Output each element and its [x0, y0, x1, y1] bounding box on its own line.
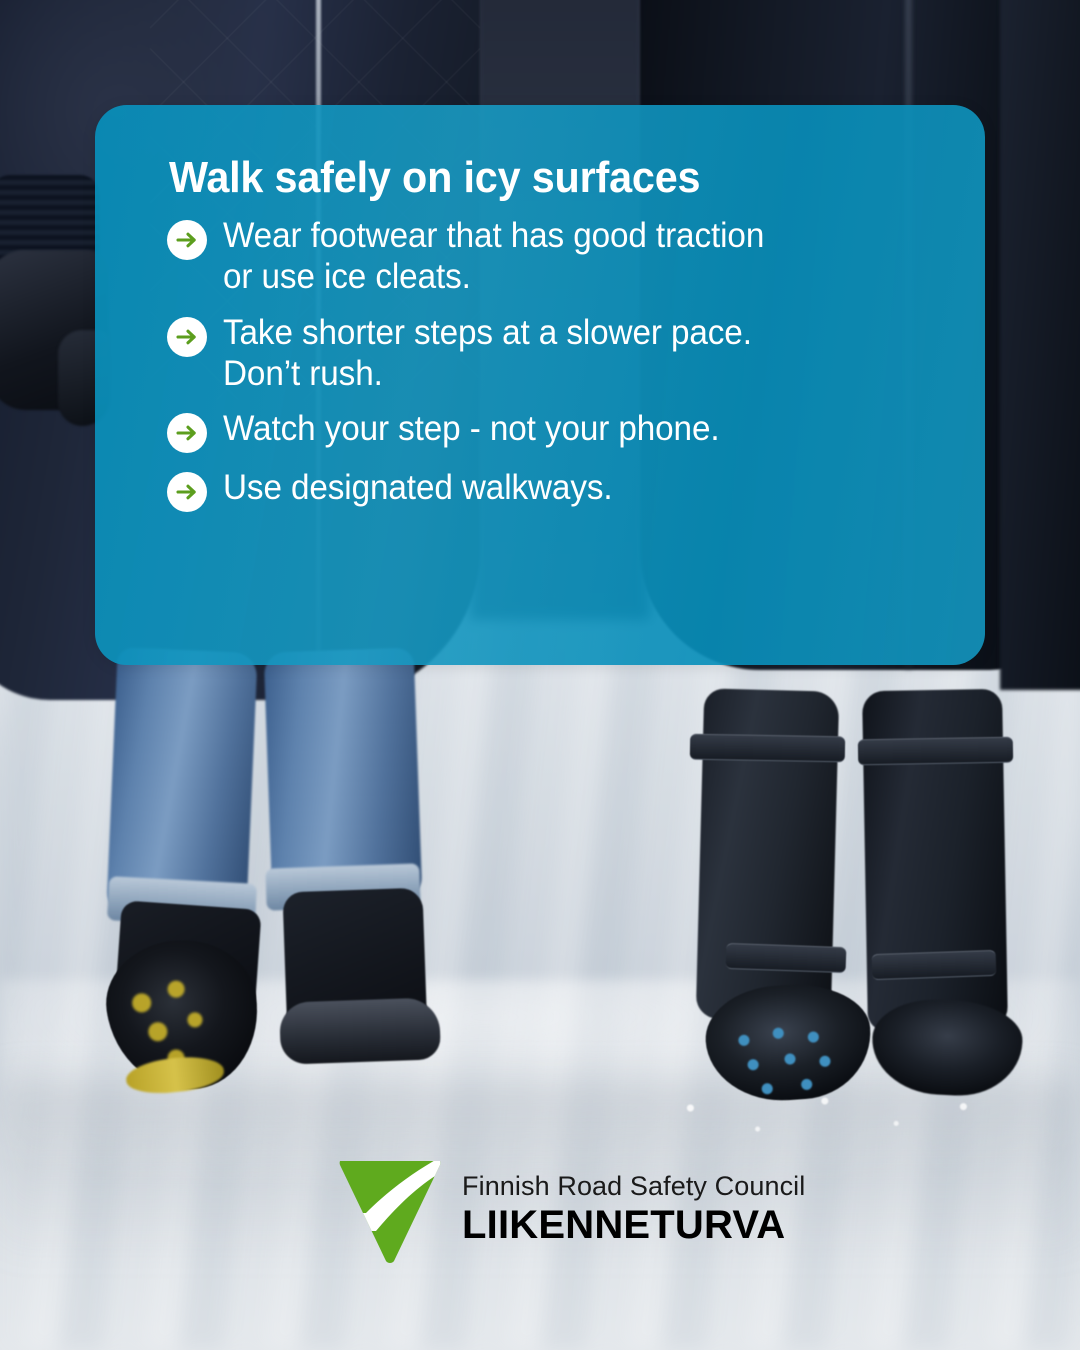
- liikenneturva-triangle-icon: [336, 1157, 444, 1267]
- list-item-label: Watch your step - not your phone.: [223, 408, 719, 449]
- arrow-right-circle-icon: [167, 220, 207, 260]
- photo-second-boot-sole: [279, 997, 441, 1065]
- arrow-right-circle-icon: [167, 413, 207, 453]
- logo-name: LIIKENNETURVA: [462, 1205, 805, 1245]
- photo-coat-edge: [1000, 0, 1080, 690]
- photo-boot-strap: [690, 734, 845, 763]
- list-item-label: Wear footwear that has good traction or …: [223, 215, 764, 298]
- list-item-label: Use designated walkways.: [223, 467, 613, 508]
- photo-boot-strap: [858, 737, 1013, 766]
- logo-subtitle: Finnish Road Safety Council: [462, 1173, 805, 1200]
- list-item: Wear footwear that has good traction or …: [167, 215, 951, 298]
- photo-boot-strap: [726, 943, 847, 973]
- info-card: Walk safely on icy surfaces Wear footwea…: [95, 105, 985, 665]
- arrow-right-circle-icon: [167, 472, 207, 512]
- safety-tips-list: Wear footwear that has good traction or …: [167, 215, 951, 512]
- list-item: Take shorter steps at a slower pace. Don…: [167, 312, 951, 395]
- page-title: Walk safely on icy surfaces: [169, 155, 904, 201]
- photo-boot-strap: [872, 950, 997, 980]
- list-item: Use designated walkways.: [167, 467, 951, 512]
- list-item: Watch your step - not your phone.: [167, 408, 951, 453]
- organisation-logo: Finnish Road Safety Council LIIKENNETURV…: [336, 1157, 805, 1267]
- photo-ice-debris: [640, 1080, 1060, 1150]
- list-item-label: Take shorter steps at a slower pace. Don…: [223, 312, 752, 395]
- poster: Walk safely on icy surfaces Wear footwea…: [0, 0, 1080, 1350]
- arrow-right-circle-icon: [167, 317, 207, 357]
- logo-wordmark: Finnish Road Safety Council LIIKENNETURV…: [462, 1157, 805, 1245]
